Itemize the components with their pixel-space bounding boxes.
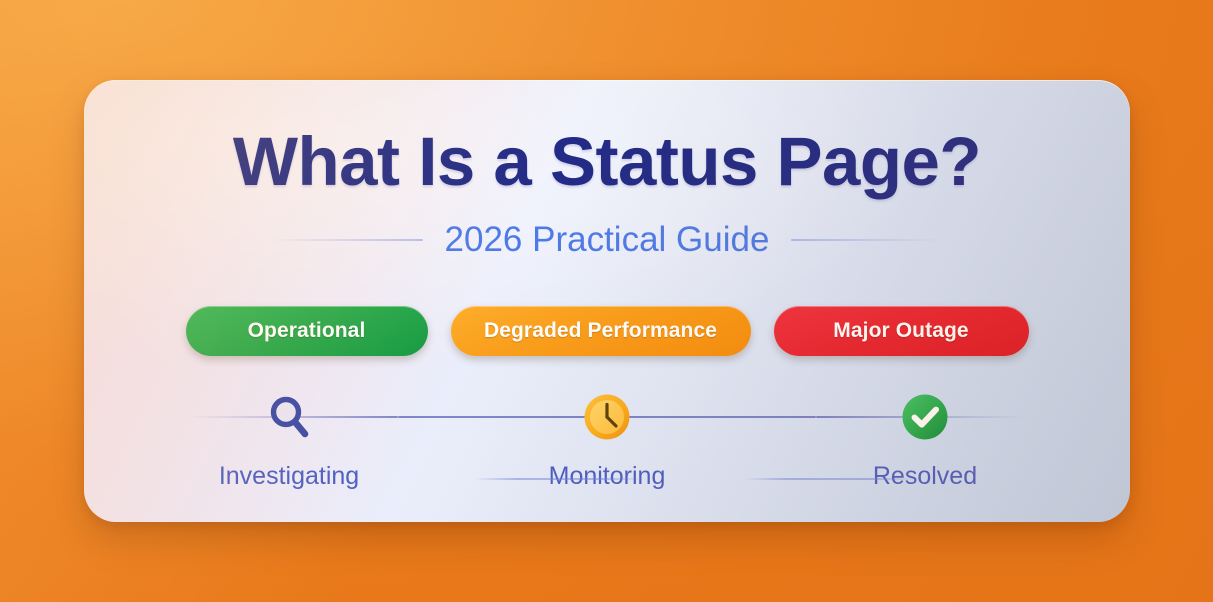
timeline-step-investigating[interactable]: Investigating (189, 392, 389, 491)
subtitle-row: 2026 Practical Guide (84, 220, 1130, 260)
status-badge-degraded-performance[interactable]: Degraded Performance (451, 306, 751, 356)
timeline-step-label-investigating: Investigating (219, 462, 359, 491)
check-circle-icon (900, 392, 950, 442)
timeline-label-rule-1 (474, 478, 644, 480)
status-badge-operational[interactable]: Operational (186, 306, 428, 356)
subtitle-rule-right (791, 239, 943, 241)
timeline-step-monitoring[interactable]: Monitoring (507, 392, 707, 491)
magnifying-glass-icon (264, 392, 314, 442)
timeline-steps: Investigating (189, 392, 1025, 491)
timeline-step-label-resolved: Resolved (873, 462, 977, 491)
card-inner: What Is a Status Page? 2026 Practical Gu… (84, 80, 1130, 522)
clock-icon (582, 392, 632, 442)
subtitle-rule-left (271, 239, 423, 241)
status-badge-major-outage[interactable]: Major Outage (774, 306, 1029, 356)
page-title: What Is a Status Page? (84, 122, 1130, 201)
poster-canvas: What Is a Status Page? 2026 Practical Gu… (0, 0, 1213, 602)
timeline-step-resolved[interactable]: Resolved (825, 392, 1025, 491)
timeline-label-rule-2 (744, 478, 914, 480)
timeline-label-rules (84, 478, 1130, 482)
status-page-card: What Is a Status Page? 2026 Practical Gu… (84, 80, 1130, 522)
status-pill-group: Operational Degraded Performance Major O… (84, 306, 1130, 356)
page-subtitle: 2026 Practical Guide (445, 220, 770, 260)
timeline-step-label-monitoring: Monitoring (549, 462, 666, 491)
incident-timeline: Investigating (84, 392, 1130, 502)
